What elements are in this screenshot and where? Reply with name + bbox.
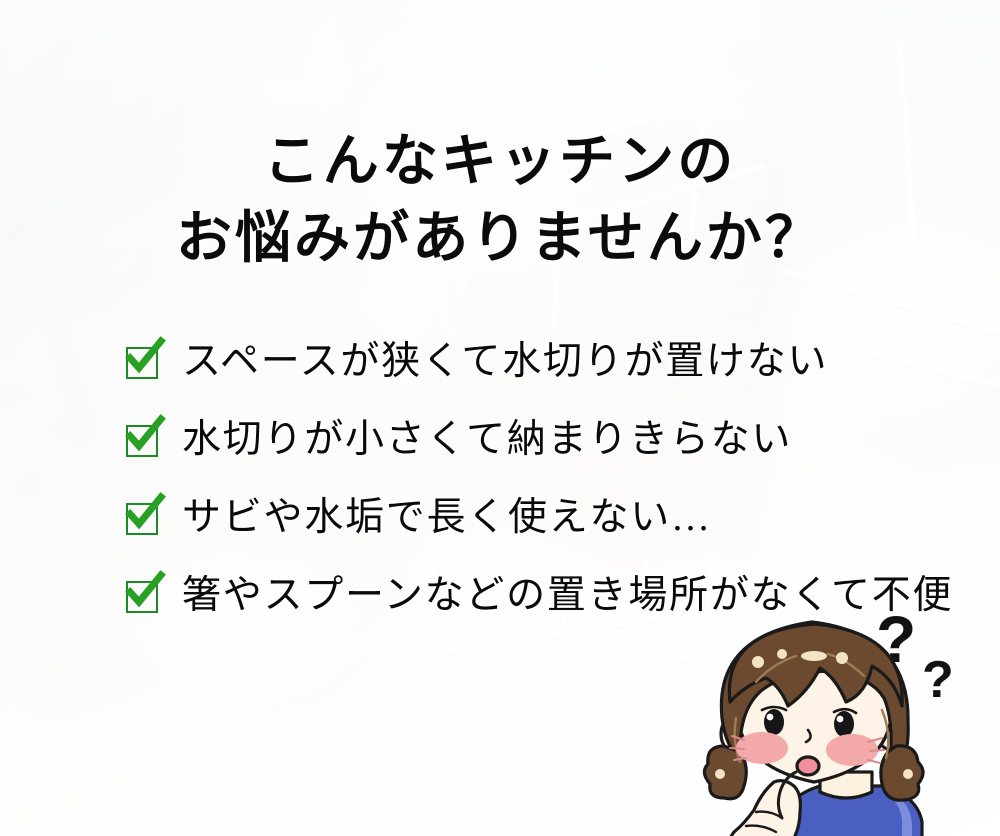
poster-content: こんなキッチンの お悩みがありませんか？ スペースが狭くて水切りが置けない: [0, 0, 1000, 836]
list-item: サビや水垢で長く使えない…: [124, 480, 984, 554]
list-item: 水切りが小さくて納まりきらない: [124, 402, 984, 476]
checked-checkbox-icon: [124, 497, 164, 537]
problem-checklist: スペースが狭くて水切りが置けない 水切りが小さくて納まりきらない: [124, 324, 984, 636]
girl-eye-left: [764, 709, 784, 735]
page-title: こんなキッチンの お悩みがありませんか？: [0, 124, 1000, 279]
list-item-label: 水切りが小さくて納まりきらない: [182, 420, 792, 459]
checkmark-icon: [124, 493, 166, 535]
checked-checkbox-icon: [124, 419, 164, 459]
girl-svg: [696, 606, 996, 836]
thinking-girl-illustration: [696, 606, 996, 836]
list-item-label: サビや水垢で長く使えない…: [182, 498, 712, 537]
promo-poster: こんなキッチンの お悩みがありませんか？ スペースが狭くて水切りが置けない: [0, 0, 1000, 836]
checkmark-icon: [124, 571, 166, 613]
checkmark-icon: [124, 415, 166, 457]
list-item-label: スペースが狭くて水切りが置けない: [182, 342, 828, 381]
checked-checkbox-icon: [124, 341, 164, 381]
checked-checkbox-icon: [124, 575, 164, 615]
girl-eye-right: [834, 711, 854, 737]
list-item: スペースが狭くて水切りが置けない: [124, 324, 984, 398]
headline-line-2: お悩みがありませんか？: [0, 201, 1000, 278]
headline-line-1: こんなキッチンの: [0, 124, 1000, 201]
girl-mouth: [797, 757, 819, 775]
checkmark-icon: [124, 337, 166, 379]
